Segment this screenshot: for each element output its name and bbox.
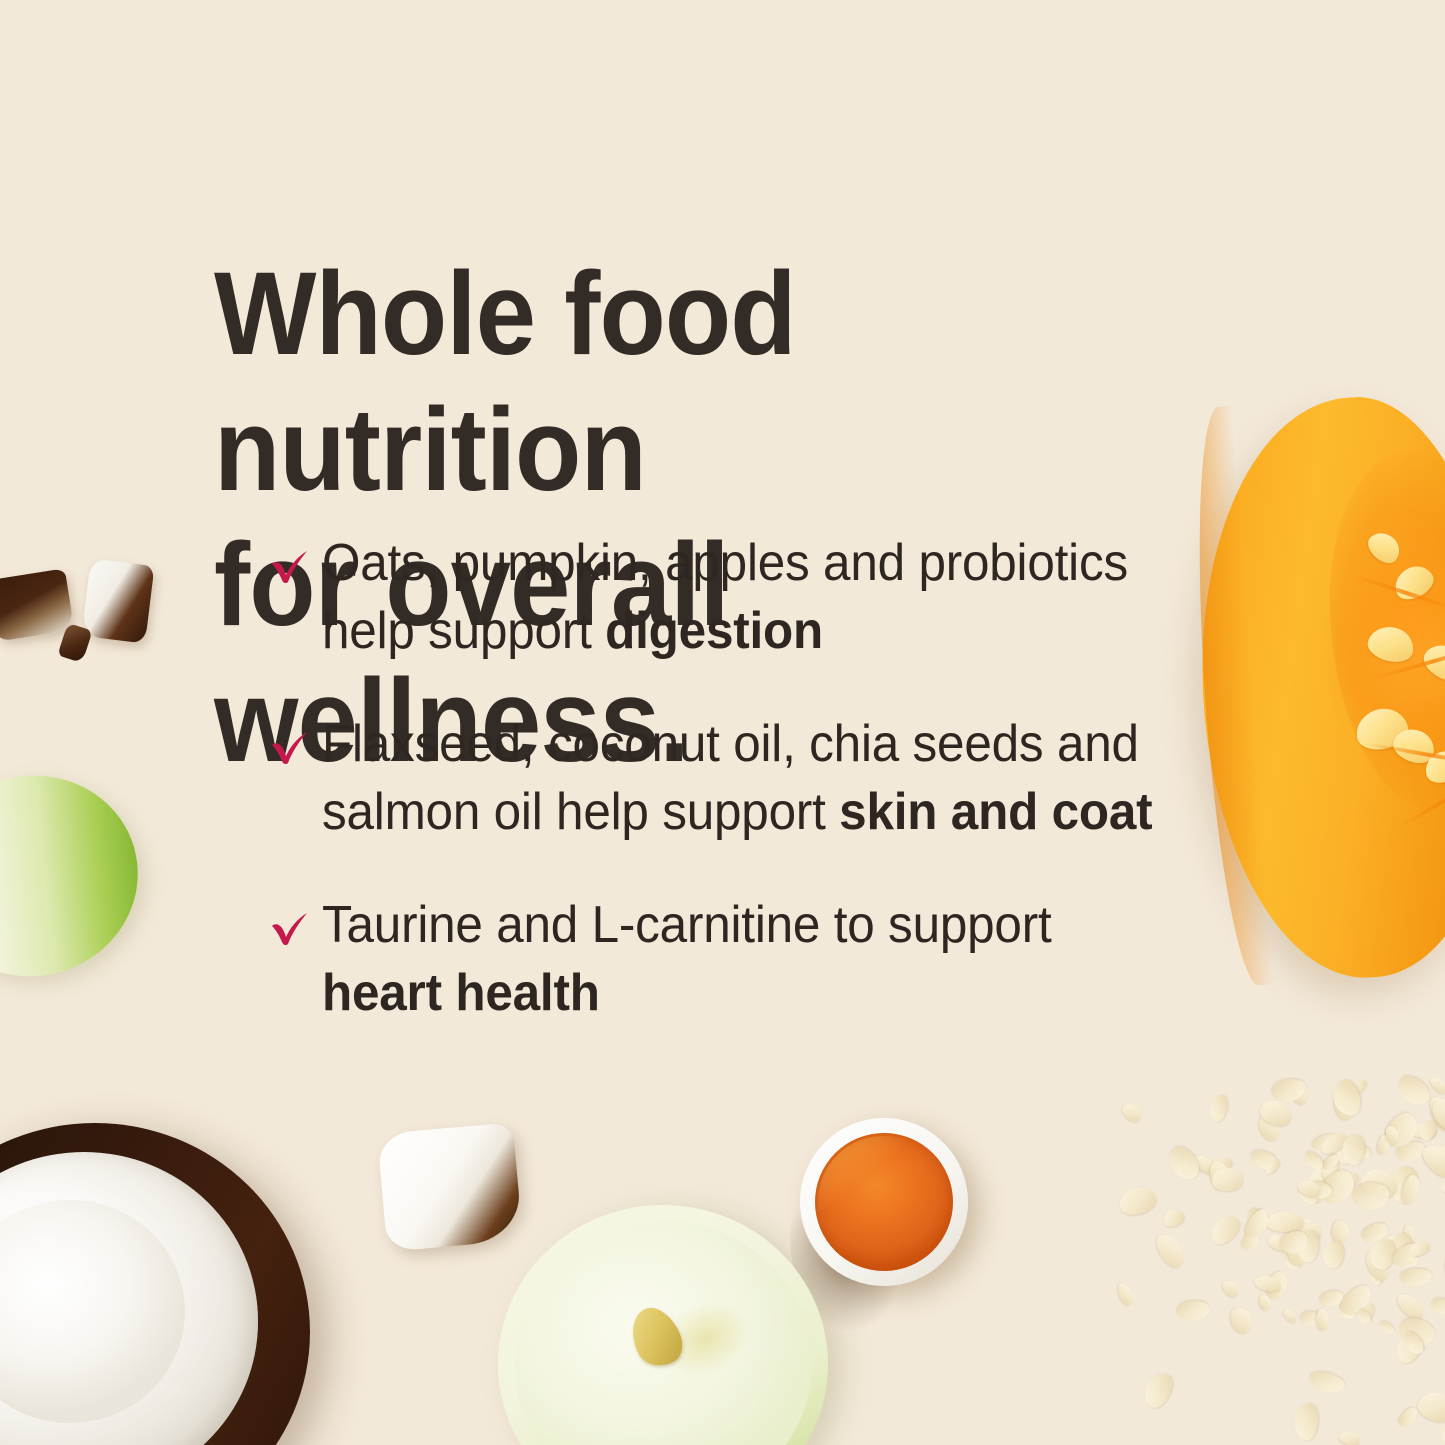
oat-flake: [1212, 1167, 1245, 1192]
oat-flake: [1394, 1289, 1429, 1323]
pumpkin-seed: [1352, 704, 1411, 754]
oat-flake: [1120, 1100, 1145, 1124]
oat-flake: [1270, 1077, 1307, 1105]
oat-flake: [1324, 1152, 1340, 1176]
oat-flake: [1258, 1293, 1273, 1312]
oat-flake: [1380, 1107, 1424, 1153]
apple-core: [638, 1277, 772, 1401]
oat-flake: [1266, 1233, 1292, 1254]
pumpkin-pulp-strand: [1364, 741, 1445, 768]
oat-flake: [1316, 1308, 1329, 1331]
oat-flake: [1254, 1273, 1283, 1293]
oat-flake: [1389, 1239, 1423, 1269]
oat-flake: [1329, 1077, 1365, 1119]
salmon-oil-liquid: [815, 1133, 953, 1271]
oat-flake: [1355, 1307, 1373, 1326]
oat-flake: [1296, 1230, 1319, 1264]
benefit-text: Taurine and L-carnitine to support heart…: [322, 892, 1164, 1027]
oat-flake: [1206, 1211, 1243, 1249]
apple-shadow: [765, 1131, 979, 1371]
oat-flake: [1336, 1281, 1376, 1320]
oat-flake: [1348, 1077, 1369, 1097]
oat-flake: [1220, 1278, 1242, 1300]
oat-flake: [1370, 1268, 1383, 1286]
oat-flake: [1226, 1304, 1255, 1337]
oat-flake: [1115, 1281, 1135, 1307]
oat-flake: [1263, 1269, 1291, 1302]
pumpkin-seed: [1421, 746, 1445, 787]
oat-flake: [1428, 1074, 1445, 1096]
oat-flake: [1296, 1178, 1323, 1200]
oat-flake: [1307, 1179, 1334, 1200]
coconut-shard-image: [377, 1122, 523, 1251]
headline-line-1: Whole food nutrition: [214, 248, 796, 516]
oat-flake: [1299, 1312, 1319, 1326]
pumpkin-seed: [1389, 560, 1438, 605]
oat-flake: [1392, 1071, 1434, 1110]
oat-flake: [1426, 1093, 1445, 1134]
oat-flake: [1376, 1134, 1391, 1156]
oat-flake: [1279, 1247, 1302, 1272]
oat-flake: [1336, 1301, 1358, 1322]
oat-flake: [1302, 1149, 1327, 1173]
oat-flake: [1160, 1206, 1186, 1229]
rolled-oats-image: [1075, 1069, 1445, 1445]
check-icon: [268, 544, 312, 588]
oat-flake: [1391, 1326, 1428, 1367]
oat-flake: [1208, 1159, 1231, 1190]
oat-flake: [1384, 1124, 1401, 1145]
oat-flake: [1116, 1183, 1159, 1218]
benefit-text: Flaxseed, coconut oil, chia seeds and sa…: [322, 711, 1164, 846]
oil-rim-highlight: [818, 1136, 949, 1267]
coconut-shard-image: [81, 558, 154, 643]
oat-flake: [1352, 1182, 1390, 1211]
green-apple-half-image: [498, 1205, 828, 1445]
oat-flake: [1394, 1140, 1427, 1165]
oat-flake: [1337, 1429, 1361, 1445]
oat-flake: [1307, 1369, 1346, 1397]
oat-flake: [1318, 1129, 1351, 1158]
oat-flake: [1352, 1142, 1373, 1162]
oat-flake: [1305, 1160, 1347, 1198]
oat-flake: [1402, 1224, 1416, 1245]
oat-flake: [1418, 1140, 1445, 1182]
oat-flake: [1318, 1289, 1345, 1309]
oat-flake: [1360, 1302, 1376, 1322]
oat-flake: [1163, 1141, 1205, 1184]
oat-flake: [1411, 1124, 1438, 1139]
oat-flake: [1263, 1157, 1281, 1176]
oat-flake: [1362, 1248, 1394, 1284]
oat-flake: [1320, 1152, 1341, 1172]
benefit-item-heart-health: Taurine and L-carnitine to support heart…: [268, 892, 1208, 1027]
oat-flake: [1247, 1147, 1279, 1173]
oat-flake: [1440, 1418, 1445, 1445]
oat-flake: [1385, 1171, 1410, 1192]
oat-flake: [1152, 1229, 1190, 1272]
oat-flake: [1287, 1078, 1311, 1108]
oat-flake: [1256, 1111, 1285, 1144]
oat-flake: [1399, 1328, 1427, 1358]
oat-flake: [1241, 1206, 1273, 1242]
oat-flake: [1314, 1164, 1361, 1210]
oat-flake: [1294, 1180, 1320, 1207]
oat-flake: [1341, 1133, 1365, 1165]
oat-flake: [1239, 1230, 1263, 1254]
oat-flake: [1243, 1205, 1273, 1234]
salmon-oil-bowl-image: [800, 1118, 968, 1286]
pumpkin-pulp-strand: [1365, 640, 1445, 682]
oat-flake: [1358, 1165, 1402, 1201]
coconut-half-image: [0, 1123, 310, 1445]
oat-flake: [1332, 1219, 1350, 1242]
oat-flake: [1417, 1117, 1438, 1142]
oat-flake: [1430, 1296, 1445, 1315]
oat-flake: [1281, 1307, 1299, 1325]
pumpkin-pulp-strand: [1397, 771, 1445, 829]
oat-flake: [1360, 1219, 1391, 1245]
oat-flake: [1285, 1235, 1309, 1267]
oat-flake: [1293, 1402, 1320, 1441]
oat-flake: [1319, 1162, 1356, 1198]
oat-flake: [1427, 1093, 1445, 1136]
apple-slice-notch: [0, 838, 1, 965]
oat-flake: [1397, 1405, 1420, 1429]
oat-flake: [1377, 1319, 1396, 1336]
pumpkin-pulp-strand: [1349, 573, 1445, 614]
oat-flake: [1305, 1181, 1325, 1204]
pumpkin-seed: [1365, 622, 1418, 666]
coconut-shard-image: [0, 568, 74, 641]
pumpkin-seed-cavity: [1319, 446, 1445, 817]
coconut-chip-image: [57, 623, 92, 663]
pumpkin-seed: [1363, 527, 1406, 569]
oat-flake: [1192, 1152, 1218, 1177]
oat-flake: [1366, 1236, 1399, 1274]
oat-flake: [1429, 1142, 1445, 1170]
oat-flake: [1399, 1173, 1422, 1206]
check-icon: [268, 725, 312, 769]
benefits-list: Oats, pumpkin, apples and probiotics hel…: [268, 530, 1208, 1028]
oat-flake: [1204, 1153, 1235, 1179]
oat-flake: [1256, 1097, 1294, 1130]
pumpkin-seed: [1389, 724, 1440, 769]
oat-flake: [1140, 1368, 1177, 1411]
apple-seed: [622, 1300, 690, 1374]
oat-flake: [1382, 1232, 1412, 1259]
oat-flake: [1414, 1388, 1445, 1426]
promo-image: Whole food nutrition for overall wellnes…: [0, 0, 1445, 1445]
oat-flake: [1310, 1131, 1339, 1153]
benefit-text: Oats, pumpkin, apples and probiotics hel…: [322, 530, 1164, 665]
oat-flake: [1278, 1228, 1311, 1257]
oat-flake: [1399, 1267, 1432, 1287]
oat-flake: [1409, 1238, 1432, 1258]
oat-flake: [1321, 1240, 1346, 1270]
oat-flake: [1327, 1167, 1362, 1198]
oat-flake: [1266, 1211, 1304, 1232]
oat-flake: [1176, 1299, 1211, 1322]
oat-flake: [1290, 1214, 1325, 1243]
pumpkin-half-image: [1183, 388, 1445, 988]
benefit-item-digestion: Oats, pumpkin, apples and probiotics hel…: [268, 530, 1208, 665]
green-apple-slice-image: [0, 756, 156, 996]
oat-flake: [1390, 1232, 1415, 1264]
oat-flake: [1439, 1176, 1445, 1193]
oat-flake: [1395, 1254, 1419, 1269]
check-icon: [268, 906, 312, 950]
coconut-flesh: [0, 1152, 258, 1445]
oat-flake: [1208, 1093, 1229, 1123]
oat-flake: [1334, 1138, 1358, 1166]
oat-flake: [1396, 1314, 1438, 1350]
oat-flake: [1333, 1086, 1358, 1121]
oat-flake: [1326, 1178, 1352, 1197]
pumpkin-seed: [1418, 638, 1445, 688]
coconut-inner-bowl: [0, 1200, 185, 1423]
apple-flesh: [515, 1221, 812, 1445]
oat-flake: [1388, 1166, 1418, 1205]
benefit-item-skin-and-coat: Flaxseed, coconut oil, chia seeds and sa…: [268, 711, 1208, 846]
